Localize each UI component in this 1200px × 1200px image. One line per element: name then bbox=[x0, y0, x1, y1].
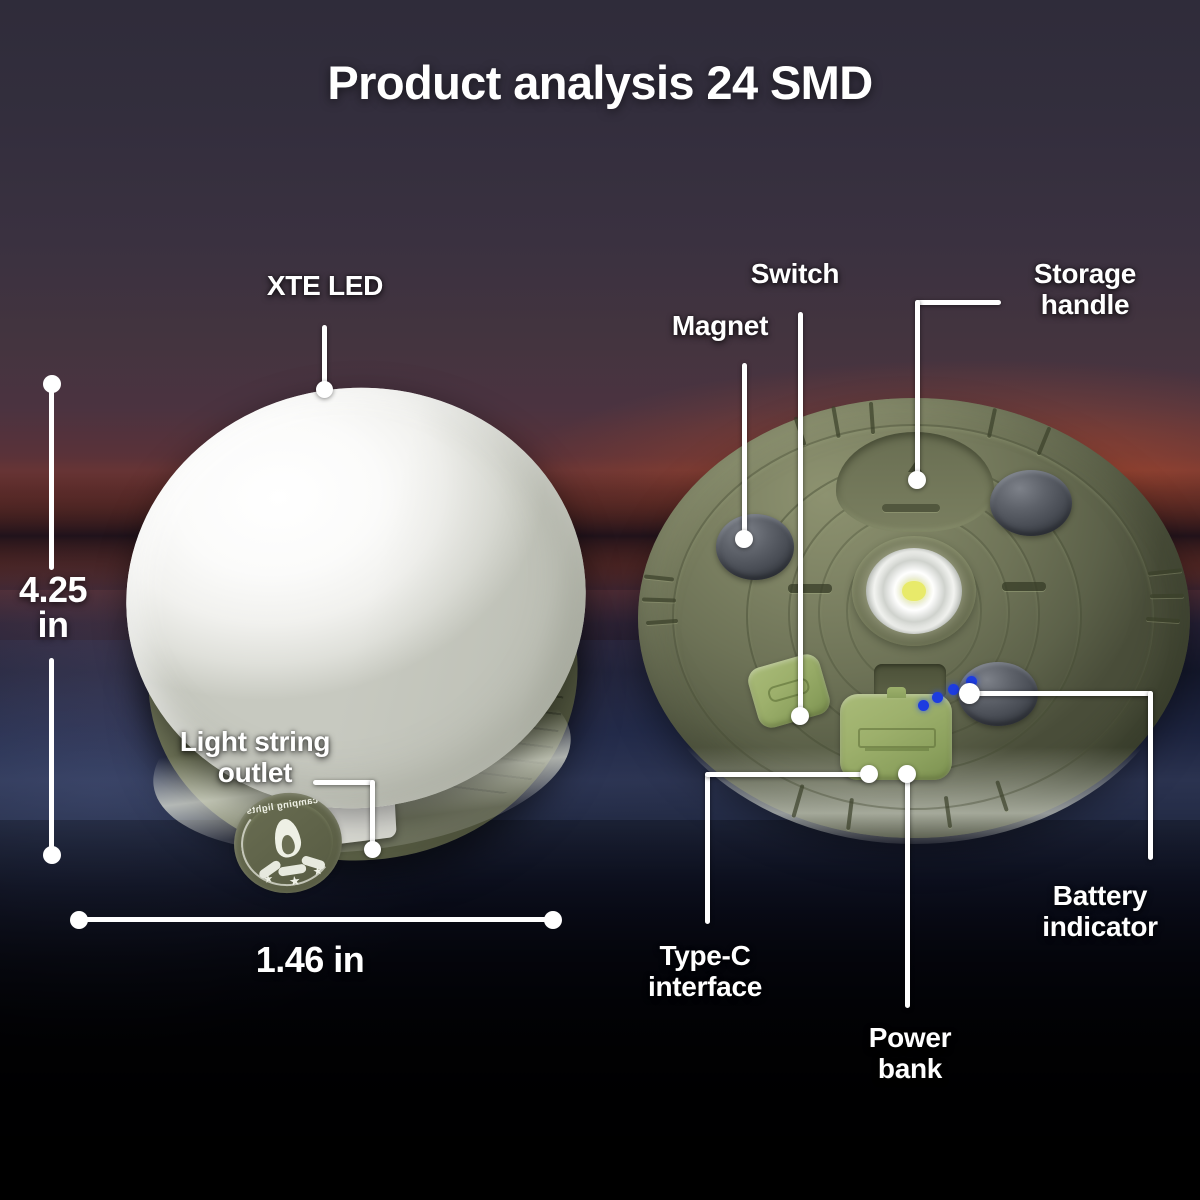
width-dimension-line bbox=[79, 917, 553, 922]
star-icon: ★ bbox=[312, 866, 323, 878]
star-icon: ★ bbox=[263, 874, 274, 886]
height-dimension-label: 4.25 in bbox=[0, 572, 114, 643]
callout-label-xte-led: XTE LED bbox=[200, 270, 450, 301]
callout-leader-type-c-h bbox=[705, 772, 869, 777]
callout-label-power-bank: Power bank bbox=[800, 1022, 1020, 1085]
green-lamp-illustration bbox=[638, 398, 1190, 868]
width-dimension-cap-right bbox=[544, 911, 562, 929]
callout-dot-light-string-outlet bbox=[364, 841, 381, 858]
callout-dot-type-c bbox=[860, 765, 878, 783]
width-dimension-label: 1.46 in bbox=[200, 942, 420, 977]
callout-label-battery-indicator: Battery indicator bbox=[1000, 880, 1200, 943]
callout-leader-switch bbox=[798, 312, 803, 714]
infographic-canvas: Product analysis 24 SMD camping lights ★… bbox=[0, 0, 1200, 1200]
callout-leader-power-bank bbox=[905, 772, 910, 1008]
battery-indicator-dot bbox=[918, 700, 929, 711]
callout-dot-switch bbox=[791, 707, 809, 725]
height-dimension-line-upper bbox=[49, 384, 54, 570]
battery-indicator-dot bbox=[948, 684, 959, 695]
callout-leader-battery-h bbox=[967, 691, 1153, 696]
side-slot-right bbox=[1002, 582, 1046, 591]
callout-leader-storage-h bbox=[915, 300, 1001, 305]
storage-handle-slot bbox=[882, 504, 940, 512]
callout-dot-magnet bbox=[735, 530, 753, 548]
magnet-pad[interactable] bbox=[716, 514, 794, 580]
magnet-pad[interactable] bbox=[990, 470, 1072, 536]
callout-label-magnet: Magnet bbox=[620, 310, 820, 341]
callout-leader-light-string-v bbox=[370, 780, 375, 846]
callout-leader-type-c-v bbox=[705, 772, 710, 924]
callout-leader-magnet bbox=[742, 363, 747, 535]
callout-dot-storage-handle bbox=[908, 471, 926, 489]
rim-groove bbox=[1150, 594, 1184, 599]
callout-label-type-c: Type-C interface bbox=[595, 940, 815, 1003]
callout-leader-storage-v bbox=[915, 300, 920, 478]
page-title: Product analysis 24 SMD bbox=[0, 55, 1200, 110]
callout-dot-battery-indicator bbox=[959, 683, 980, 704]
callout-label-storage-handle: Storage handle bbox=[975, 258, 1195, 321]
callout-leader-xte-led bbox=[322, 325, 327, 385]
power-bank-port-cover[interactable] bbox=[840, 694, 952, 780]
height-dimension-cap-bottom bbox=[43, 846, 61, 864]
cover-nub bbox=[887, 687, 906, 698]
white-lamp-illustration: camping lights ★ ★ ★ bbox=[118, 370, 608, 880]
star-icon: ★ bbox=[288, 874, 302, 889]
callout-dot-power-bank bbox=[898, 765, 916, 783]
battery-indicator-dot bbox=[932, 692, 943, 703]
callout-dot-xte-led bbox=[316, 381, 333, 398]
xte-led-reflector bbox=[866, 548, 962, 634]
callout-label-switch: Switch bbox=[700, 258, 890, 289]
callout-leader-light-string-h bbox=[313, 780, 375, 785]
height-dimension-line-lower bbox=[49, 658, 54, 854]
side-slot-left bbox=[788, 584, 832, 593]
callout-leader-battery-v bbox=[1148, 691, 1153, 860]
